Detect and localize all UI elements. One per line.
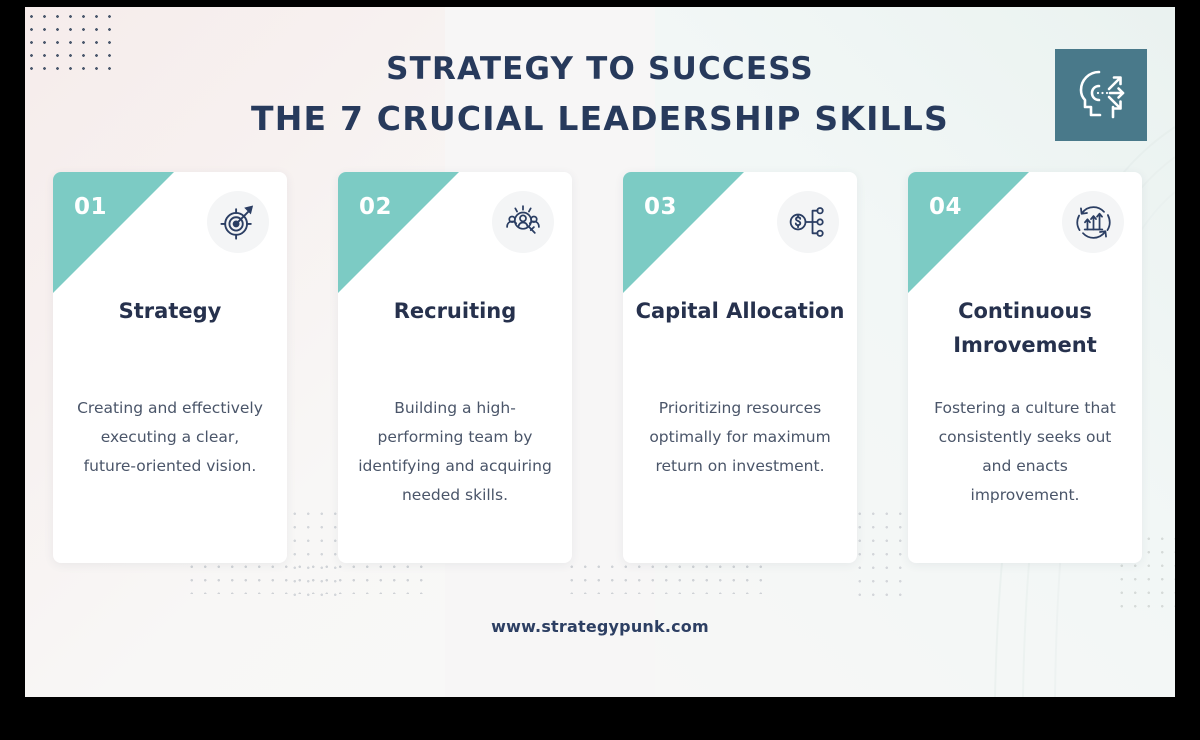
card-number: 02	[359, 194, 392, 220]
card-number: 01	[74, 194, 107, 220]
card-recruiting[interactable]: 02 Recruit	[338, 172, 572, 563]
footer-url[interactable]: www.strategypunk.com	[25, 617, 1175, 636]
growth-arrows-cycle-icon	[1074, 203, 1113, 242]
card-corner-accent	[338, 172, 459, 293]
card-corner-accent	[908, 172, 1029, 293]
card-corner-accent	[53, 172, 174, 293]
card-continuous-improvement[interactable]: 04 Continu	[908, 172, 1142, 563]
head-with-arrows-icon	[1069, 63, 1133, 127]
card-title: Recruiting	[338, 294, 572, 328]
cards-row: 01 Strategy Creating and effectively exe…	[25, 172, 1175, 572]
card-icon-badge	[1062, 191, 1124, 253]
slide-canvas: STRATEGY TO SUCCESS THE 7 CRUCIAL LEADER…	[25, 7, 1175, 697]
card-corner-accent	[623, 172, 744, 293]
card-number: 04	[929, 194, 962, 220]
card-body-text: Building a high-performing team by ident…	[338, 394, 572, 511]
card-title: Strategy	[53, 294, 287, 328]
people-magnifier-icon	[503, 202, 543, 242]
card-title: Continuous Imrovement	[908, 294, 1142, 362]
card-icon-badge	[777, 191, 839, 253]
card-body-text: Creating and effectively executing a cle…	[53, 394, 287, 481]
target-dart-icon	[219, 203, 257, 241]
title-line-1: STRATEGY TO SUCCESS	[386, 51, 814, 87]
card-body-text: Prioritizing resources optimally for max…	[623, 394, 857, 481]
page-title: STRATEGY TO SUCCESS THE 7 CRUCIAL LEADER…	[25, 45, 1175, 145]
card-icon-badge	[492, 191, 554, 253]
card-title: Capital Allocation	[623, 294, 857, 328]
card-number: 03	[644, 194, 677, 220]
dollar-distribution-icon	[789, 203, 827, 241]
title-line-2: THE 7 CRUCIAL LEADERSHIP SKILLS	[25, 93, 1175, 144]
card-capital-allocation[interactable]: 03 Capital	[623, 172, 857, 563]
brand-logo	[1055, 49, 1147, 141]
card-body-text: Fostering a culture that consistently se…	[908, 394, 1142, 511]
card-strategy[interactable]: 01 Strategy Creating and effectively exe…	[53, 172, 287, 563]
card-icon-badge	[207, 191, 269, 253]
